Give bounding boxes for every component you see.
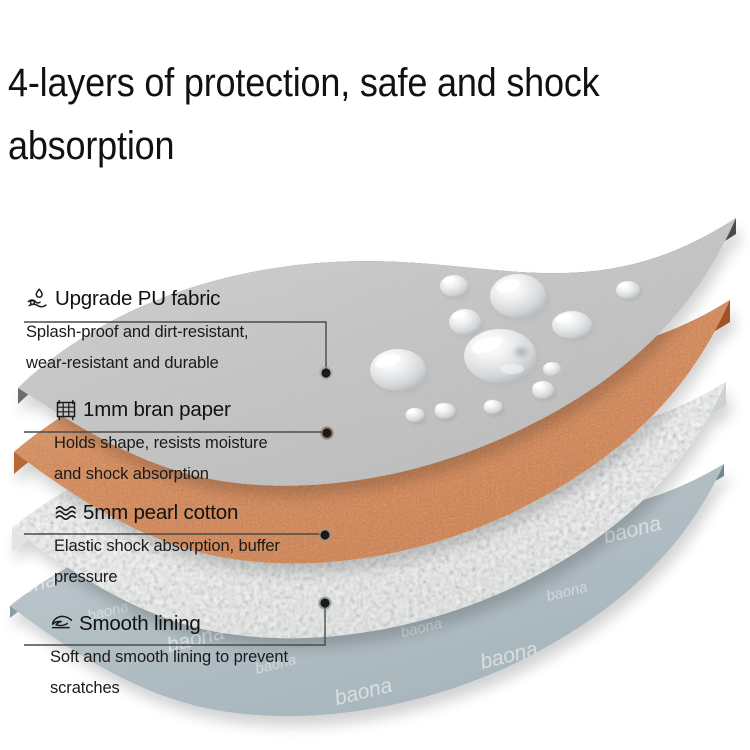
callout-pu-fabric-title: Upgrade PU fabric [55, 287, 220, 311]
callout-pu-fabric-description: Splash-proof and dirt-resistant, wear-re… [26, 317, 248, 379]
waves-icon [54, 501, 78, 525]
grid-mesh-icon [54, 398, 78, 422]
callout-smooth-lining-header: Smooth lining [50, 611, 288, 637]
callout-pearl-cotton-title: 5mm pearl cotton [83, 501, 238, 525]
water-drop-icon [26, 287, 50, 311]
callout-smooth-lining: Smooth lining Soft and smooth lining to … [50, 611, 288, 704]
callout-smooth-lining-description: Soft and smooth lining to prevent scratc… [50, 642, 288, 704]
callout-smooth-lining-title: Smooth lining [79, 612, 201, 636]
water-droplet [615, 281, 645, 303]
callout-pu-fabric: Upgrade PU fabric Splash-proof and dirt-… [26, 286, 248, 379]
callout-pearl-cotton-header: 5mm pearl cotton [54, 500, 280, 526]
feather-icon [50, 612, 74, 636]
callout-bran-paper-title: 1mm bran paper [83, 398, 231, 422]
callout-bran-paper-description: Holds shape, resists moisture and shock … [54, 428, 268, 490]
callout-pearl-cotton: 5mm pearl cotton Elastic shock absorptio… [54, 500, 280, 593]
callout-pu-fabric-header: Upgrade PU fabric [26, 286, 248, 312]
callout-bran-paper-header: 1mm bran paper [54, 397, 268, 423]
infographic-canvas: 4-layers of protection, safe and shockab… [0, 0, 750, 750]
callout-bran-paper: 1mm bran paper Holds shape, resists mois… [54, 397, 268, 490]
callout-pearl-cotton-description: Elastic shock absorption, buffer pressur… [54, 531, 280, 593]
